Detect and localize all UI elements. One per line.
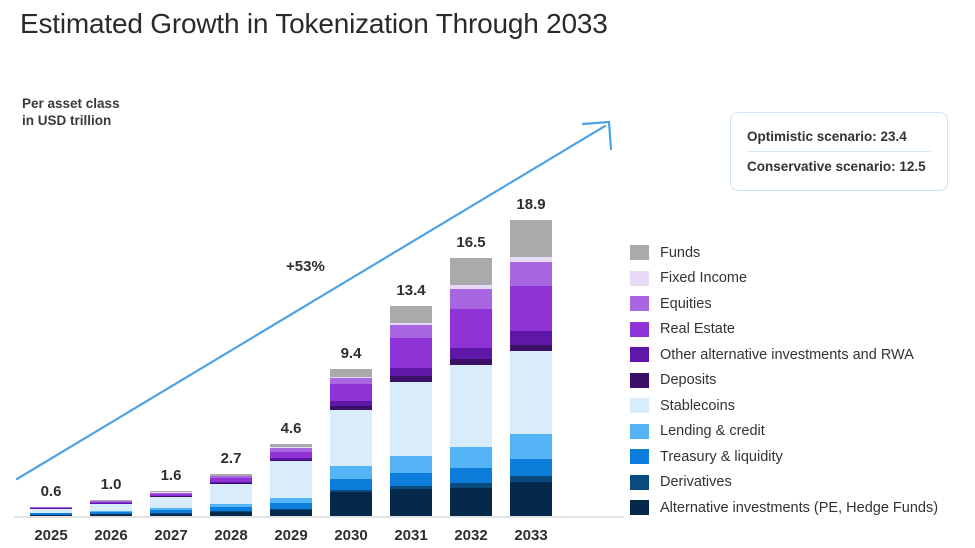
x-axis-label: 2032 (444, 527, 498, 544)
legend-item-label: Fixed Income (660, 270, 747, 286)
bar-segment[interactable] (330, 479, 372, 489)
legend-item[interactable]: Equities (630, 291, 975, 317)
x-axis-label: 2028 (204, 527, 258, 544)
bar-segment[interactable] (510, 482, 552, 516)
legend-swatch-icon (630, 373, 649, 388)
bar-segment[interactable] (330, 466, 372, 479)
legend-item-label: Funds (660, 245, 700, 261)
bar-segment[interactable] (390, 456, 432, 473)
bar-segment[interactable] (330, 384, 372, 400)
bar-segment[interactable] (510, 351, 552, 434)
bar-segment[interactable] (390, 368, 432, 377)
bar-stack[interactable] (210, 474, 252, 516)
legend-swatch-icon (630, 500, 649, 515)
bar-stack[interactable] (510, 220, 552, 516)
bar-segment[interactable] (390, 382, 432, 456)
scenario-box: Optimistic scenario: 23.4 Conservative s… (730, 112, 948, 191)
bar-segment[interactable] (270, 461, 312, 498)
legend-item[interactable]: Treasury & liquidity (630, 444, 975, 470)
legend-swatch-icon (630, 347, 649, 362)
bar-segment[interactable] (30, 515, 72, 516)
legend-swatch-icon (630, 424, 649, 439)
bar-segment[interactable] (390, 338, 432, 368)
bar-segment[interactable] (390, 306, 432, 322)
legend-item[interactable]: Funds (630, 240, 975, 266)
bar-segment[interactable] (450, 258, 492, 285)
bar-segment[interactable] (90, 514, 132, 516)
legend-swatch-icon (630, 475, 649, 490)
legend-item-label: Alternative investments (PE, Hedge Funds… (660, 500, 938, 516)
bar-value-label: 4.6 (264, 420, 318, 437)
bar-segment[interactable] (450, 468, 492, 483)
legend-swatch-icon (630, 449, 649, 464)
conservative-scenario-row: Conservative scenario: 12.5 (747, 155, 931, 178)
x-axis-label: 2033 (504, 527, 558, 544)
bar-segment[interactable] (330, 492, 372, 516)
x-axis-label: 2031 (384, 527, 438, 544)
bar-stack[interactable] (270, 444, 312, 516)
legend-swatch-icon (630, 322, 649, 337)
legend-swatch-icon (630, 271, 649, 286)
bar-value-label: 13.4 (384, 282, 438, 299)
bar-value-label: 0.6 (24, 483, 78, 500)
legend-item[interactable]: Fixed Income (630, 266, 975, 292)
legend-item[interactable]: Other alternative investments and RWA (630, 342, 975, 368)
bar-segment[interactable] (390, 325, 432, 338)
bar-segment[interactable] (510, 220, 552, 257)
legend: FundsFixed IncomeEquitiesReal EstateOthe… (630, 240, 975, 521)
legend-item-label: Derivatives (660, 474, 732, 490)
bar-stack[interactable] (330, 369, 372, 516)
bar-segment[interactable] (450, 447, 492, 468)
bar-segment[interactable] (510, 262, 552, 286)
bar-segment[interactable] (150, 514, 192, 517)
x-axis-label: 2030 (324, 527, 378, 544)
bar-segment[interactable] (390, 489, 432, 516)
bar-value-label: 1.0 (84, 476, 138, 493)
bar-segment[interactable] (450, 365, 492, 446)
bar-value-label: 9.4 (324, 345, 378, 362)
legend-item-label: Treasury & liquidity (660, 449, 783, 465)
bar-segment[interactable] (510, 459, 552, 475)
legend-item-label: Lending & credit (660, 423, 765, 439)
legend-item[interactable]: Real Estate (630, 317, 975, 343)
bar-segment[interactable] (450, 289, 492, 309)
bar-value-label: 1.6 (144, 467, 198, 484)
bar-value-label: 18.9 (504, 196, 558, 213)
x-axis-label: 2026 (84, 527, 138, 544)
bar-segment[interactable] (510, 286, 552, 331)
chart-page: Estimated Growth in Tokenization Through… (0, 0, 975, 548)
legend-item-label: Deposits (660, 372, 716, 388)
x-axis-label: 2029 (264, 527, 318, 544)
legend-swatch-icon (630, 296, 649, 311)
bar-segment[interactable] (510, 434, 552, 459)
bar-stack[interactable] (450, 258, 492, 516)
legend-item[interactable]: Stablecoins (630, 393, 975, 419)
bar-segment[interactable] (330, 410, 372, 466)
legend-item-label: Equities (660, 296, 712, 312)
legend-item-label: Other alternative investments and RWA (660, 347, 914, 363)
bar-segment[interactable] (90, 504, 132, 511)
plot-area: 0.620251.020261.620272.720284.620299.420… (0, 0, 630, 548)
bar-segment[interactable] (510, 331, 552, 344)
growth-annotation: +53% (286, 258, 325, 275)
legend-item[interactable]: Alternative investments (PE, Hedge Funds… (630, 495, 975, 521)
x-axis-label: 2027 (144, 527, 198, 544)
bar-segment[interactable] (450, 488, 492, 516)
legend-swatch-icon (630, 398, 649, 413)
x-axis-baseline (14, 516, 624, 518)
legend-item-label: Real Estate (660, 321, 735, 337)
bar-value-label: 16.5 (444, 234, 498, 251)
legend-item-label: Stablecoins (660, 398, 735, 414)
optimistic-scenario-row: Optimistic scenario: 23.4 (747, 125, 931, 148)
bar-segment[interactable] (210, 484, 252, 504)
bar-segment[interactable] (210, 512, 252, 516)
bar-stack[interactable] (390, 306, 432, 516)
bar-segment[interactable] (150, 497, 192, 509)
bar-segment[interactable] (270, 510, 312, 516)
bar-stack[interactable] (30, 507, 72, 516)
bar-segment[interactable] (450, 309, 492, 349)
legend-item[interactable]: Derivatives (630, 470, 975, 496)
bar-stack[interactable] (90, 500, 132, 516)
legend-swatch-icon (630, 245, 649, 260)
x-axis-label: 2025 (24, 527, 78, 544)
bar-stack[interactable] (150, 491, 192, 516)
bar-segment[interactable] (450, 348, 492, 359)
scenario-divider (747, 151, 931, 152)
bar-value-label: 2.7 (204, 450, 258, 467)
legend-item[interactable]: Deposits (630, 368, 975, 394)
legend-item[interactable]: Lending & credit (630, 419, 975, 445)
bar-segment[interactable] (330, 369, 372, 377)
bar-segment[interactable] (390, 473, 432, 486)
